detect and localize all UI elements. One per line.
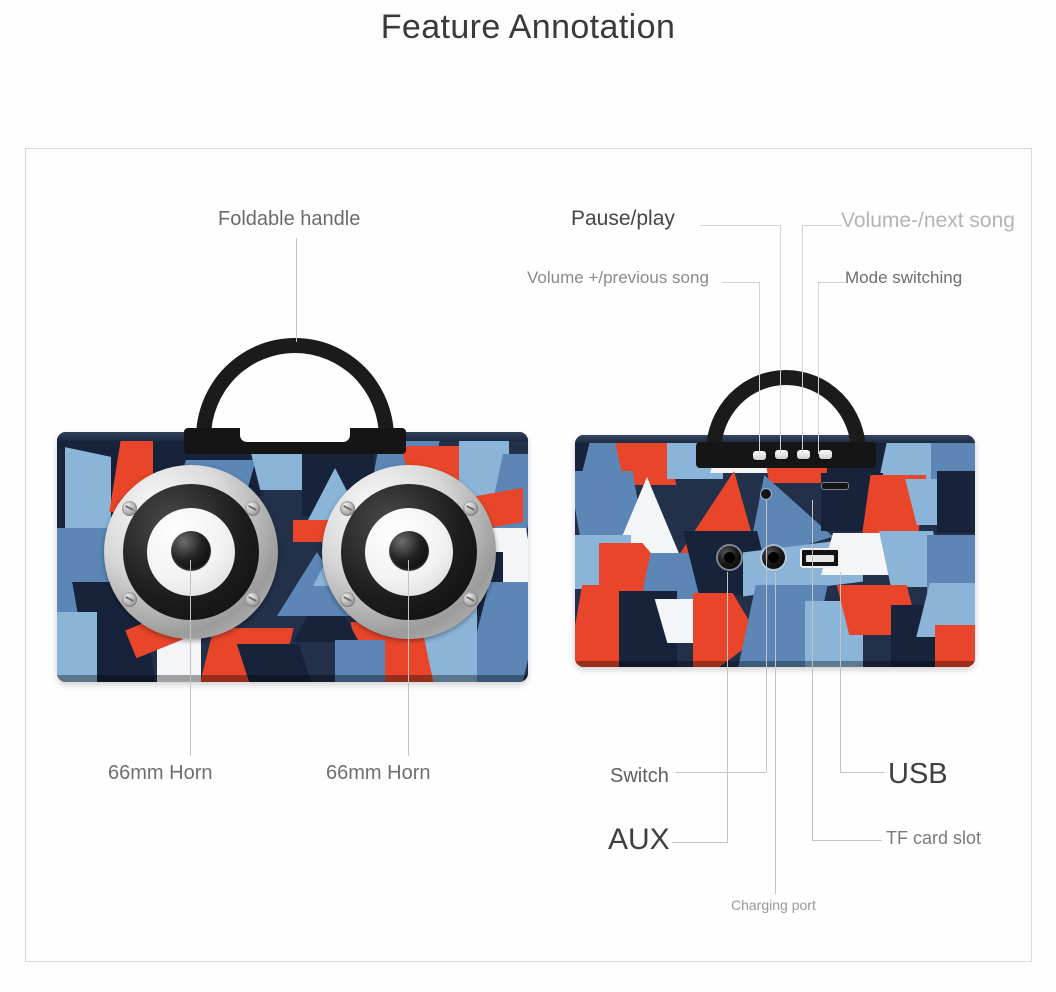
aux-port[interactable] xyxy=(718,546,741,569)
label-volume-up-previous: Volume +/previous song xyxy=(527,268,709,288)
volume-down-next-button[interactable] xyxy=(797,450,810,459)
usb-port[interactable] xyxy=(800,548,840,568)
leader-line-aux xyxy=(672,842,728,843)
label-volume-down-next: Volume-/next song xyxy=(841,209,1015,233)
leader-line-mode-switching-drop xyxy=(818,282,819,454)
label-switch: Switch xyxy=(610,765,669,788)
label-aux: AUX xyxy=(608,823,670,857)
leader-line-pause-play-drop xyxy=(780,225,781,453)
label-horn-left: 66mm Horn xyxy=(108,762,212,785)
leader-line-usb xyxy=(840,772,884,773)
leader-line-usb-drop xyxy=(840,572,841,772)
label-pause-play: Pause/play xyxy=(571,207,675,231)
mode-switching-button[interactable] xyxy=(819,450,832,459)
annotation-page: Feature Annotation xyxy=(0,0,1056,992)
leader-line-switch xyxy=(676,772,766,773)
label-foldable-handle: Foldable handle xyxy=(218,208,360,231)
leader-line-aux-drop xyxy=(727,572,728,842)
label-mode-switching: Mode switching xyxy=(845,268,962,288)
leader-line-volume-down-drop xyxy=(802,225,803,453)
leader-line-tf-card xyxy=(812,840,882,841)
leader-line-charging-port-drop xyxy=(775,572,776,894)
label-tf-card-slot: TF card slot xyxy=(886,828,981,849)
pause-play-button[interactable] xyxy=(775,450,788,459)
foldable-handle-back[interactable] xyxy=(706,370,866,452)
leader-line-volume-up-drop xyxy=(759,282,760,454)
leader-line-tf-card-drop xyxy=(812,500,813,840)
leader-line-volume-down xyxy=(802,225,842,226)
tf-card-slot-opening[interactable] xyxy=(822,483,848,489)
leader-line-switch-drop xyxy=(766,500,767,772)
leader-line-foldable-handle xyxy=(296,238,297,342)
handle-arc xyxy=(706,370,866,452)
leader-line-pause-play xyxy=(700,225,780,226)
switch-opening[interactable] xyxy=(761,489,771,499)
label-horn-right: 66mm Horn xyxy=(326,762,430,785)
leader-line-volume-up xyxy=(722,282,760,283)
leader-line-horn-right xyxy=(408,560,409,756)
leader-line-horn-left xyxy=(190,560,191,756)
leader-line-mode-switching xyxy=(818,282,848,283)
label-usb: USB xyxy=(888,758,948,791)
label-charging-port: Charging port xyxy=(731,897,816,913)
